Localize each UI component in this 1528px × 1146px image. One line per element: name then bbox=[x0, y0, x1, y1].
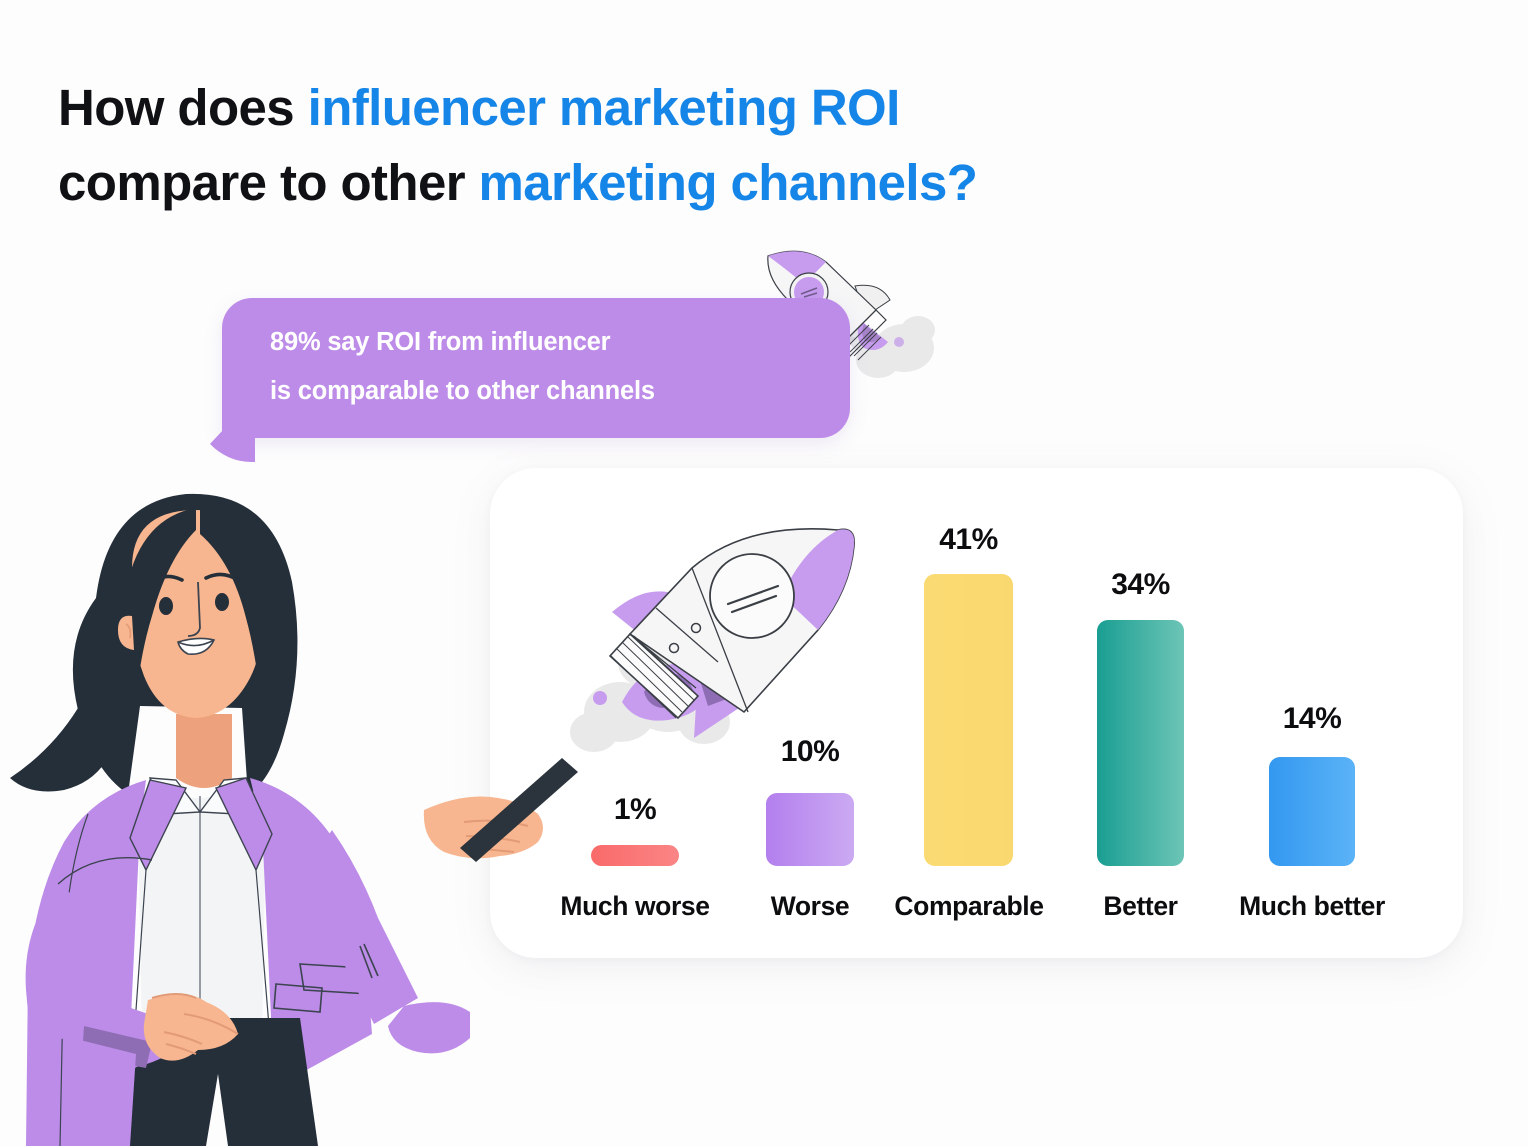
bar-label-worse: Worse bbox=[752, 891, 868, 922]
bar-worse bbox=[766, 793, 854, 866]
bar-better bbox=[1097, 620, 1184, 866]
rocket-icon-large bbox=[556, 516, 876, 766]
bar-much-better bbox=[1269, 757, 1355, 866]
bar-label-much-better: Much better bbox=[1226, 891, 1398, 922]
bar-value-better: 34% bbox=[1097, 568, 1184, 602]
bar-value-much-better: 14% bbox=[1269, 702, 1355, 736]
callout-line-2: is comparable to other channels bbox=[270, 367, 850, 416]
bar-value-worse: 10% bbox=[766, 735, 854, 769]
bar-label-much-worse: Much worse bbox=[548, 891, 722, 922]
title-line-2: compare to other marketing channels? bbox=[58, 145, 977, 220]
title-line-1-plain: How does bbox=[58, 79, 308, 136]
bar-value-comparable: 41% bbox=[924, 523, 1013, 557]
bar-label-comparable: Comparable bbox=[880, 891, 1058, 922]
presenter-illustration bbox=[0, 478, 470, 1146]
title-line-2-highlight: marketing channels? bbox=[479, 154, 978, 211]
bar-label-better: Better bbox=[1081, 891, 1200, 922]
title-line-1: How does influencer marketing ROI bbox=[58, 70, 977, 145]
page-title: How does influencer marketing ROI compar… bbox=[58, 70, 977, 221]
title-line-2-plain: compare to other bbox=[58, 154, 479, 211]
bar-value-much-worse: 1% bbox=[591, 793, 679, 827]
infographic-canvas: How does influencer marketing ROI compar… bbox=[0, 0, 1528, 1146]
callout-line-1: 89% say ROI from influencer bbox=[270, 318, 850, 367]
bar-comparable bbox=[924, 574, 1013, 866]
title-line-1-highlight: influencer marketing ROI bbox=[308, 79, 900, 136]
callout-text: 89% say ROI from influencer is comparabl… bbox=[270, 318, 850, 416]
pointer-stick-icon bbox=[420, 756, 600, 896]
bar-much-worse bbox=[591, 845, 679, 866]
